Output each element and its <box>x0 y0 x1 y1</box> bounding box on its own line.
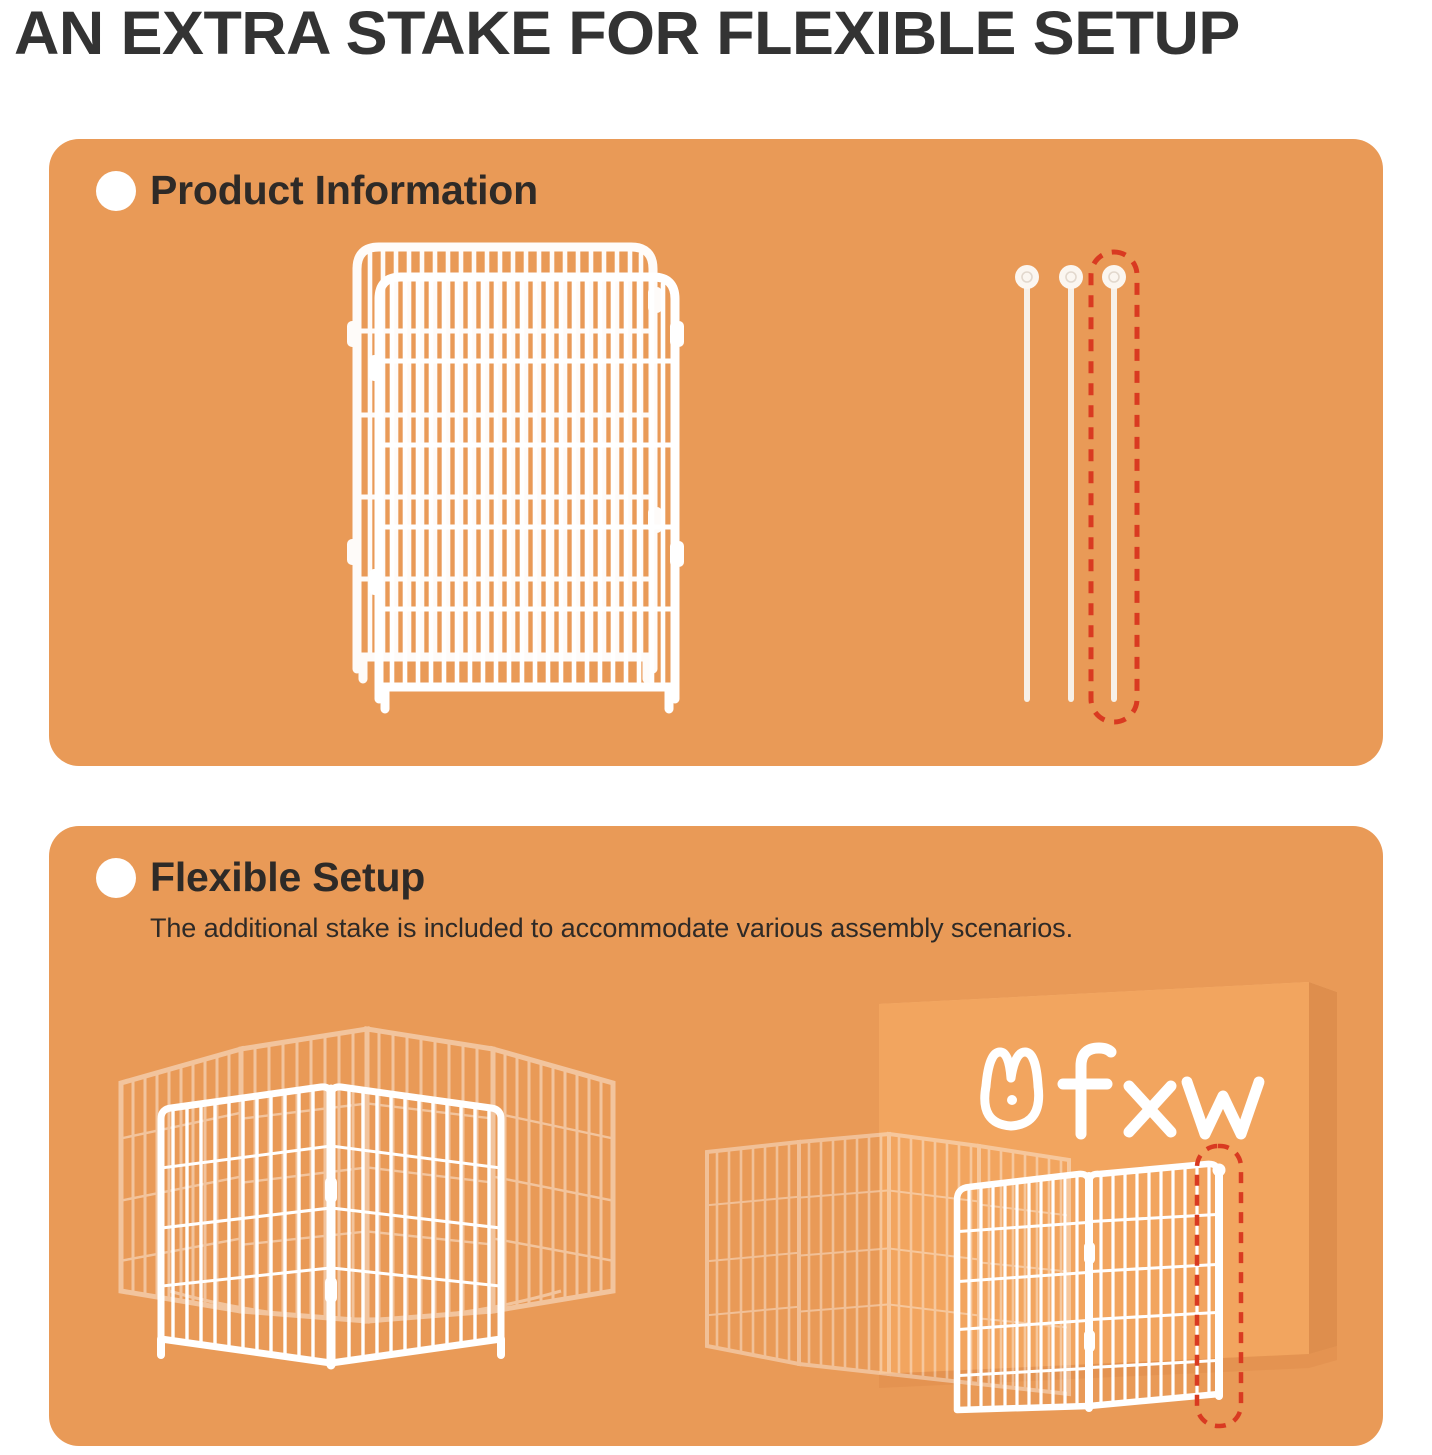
stakes-illustration <box>974 244 1194 734</box>
product-information-header: Product Information <box>96 167 538 214</box>
stake-1 <box>1015 265 1039 699</box>
stake-3-highlighted <box>1102 265 1126 699</box>
section-title-product: Product Information <box>150 167 538 214</box>
octagon-playpen-illustration <box>109 991 629 1411</box>
section-title-flexible: Flexible Setup <box>150 854 425 901</box>
product-information-panel: Product Information <box>49 139 1383 766</box>
flexible-setup-panel: Flexible Setup The additional stake is i… <box>49 826 1383 1446</box>
flexible-setup-subtitle: The additional stake is included to acco… <box>150 913 1073 944</box>
wall-mounted-run-illustration <box>689 974 1369 1414</box>
page-title: AN EXTRA STAKE FOR FLEXIBLE SETUP <box>14 2 1432 64</box>
stake-2 <box>1059 265 1083 699</box>
bullet-dot-icon <box>96 171 136 211</box>
flexible-setup-header: Flexible Setup <box>96 854 425 901</box>
fence-panels-pair-illustration <box>349 239 769 719</box>
bullet-dot-icon <box>96 858 136 898</box>
